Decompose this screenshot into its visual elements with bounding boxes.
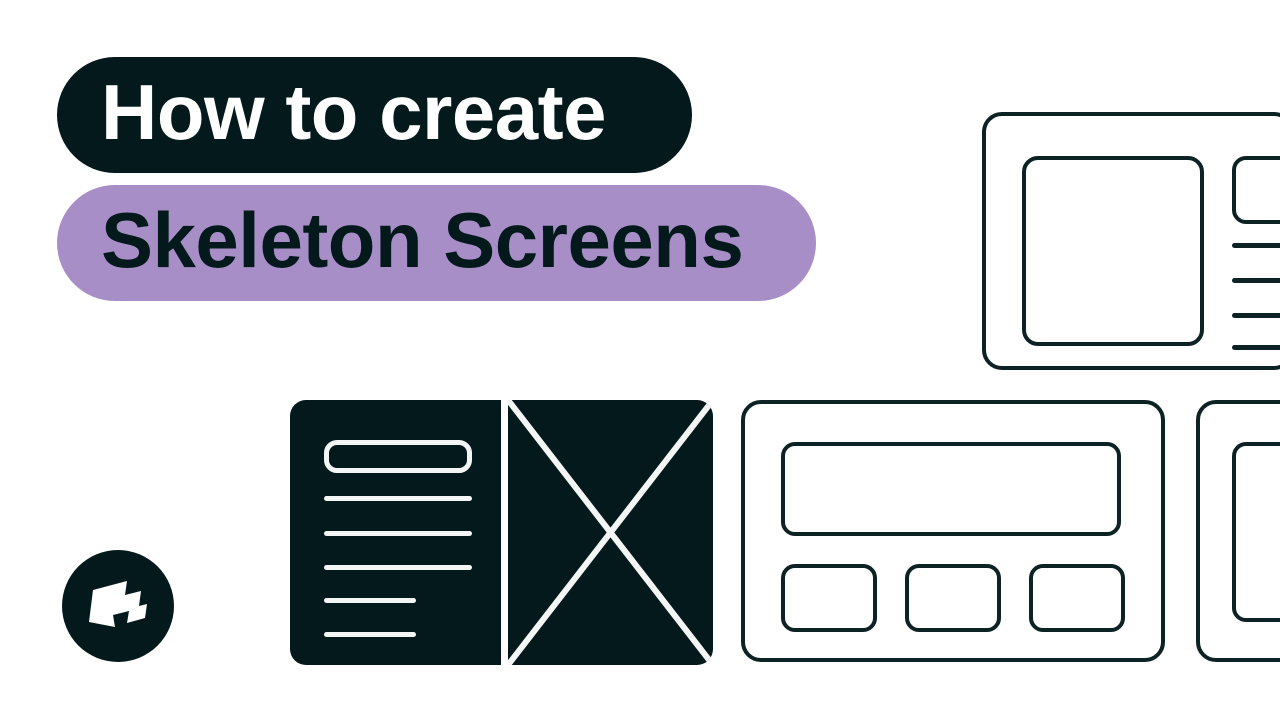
cover-canvas: How to create Skeleton Screens — [0, 0, 1280, 720]
hero-placeholder — [781, 442, 1121, 536]
tile-placeholder-2 — [905, 564, 1001, 632]
text-line-1 — [324, 496, 472, 501]
wireframe-card-media-list[interactable] — [982, 112, 1280, 370]
brand-logo[interactable] — [62, 550, 174, 662]
dark-panel-content-column[interactable] — [290, 400, 501, 665]
title-line-2-text: Skeleton Screens — [101, 201, 743, 279]
text-line-4 — [1232, 345, 1280, 350]
text-line-2 — [1232, 278, 1280, 283]
tile-placeholder-3 — [1029, 564, 1125, 632]
text-line-1 — [1232, 243, 1280, 248]
heading-placeholder — [1232, 156, 1280, 224]
inner-placeholder — [1232, 442, 1280, 622]
wireframe-card-partial[interactable] — [1196, 400, 1280, 662]
search-field-placeholder — [324, 440, 472, 473]
thumbnail-placeholder — [1022, 156, 1204, 346]
text-line-3 — [1232, 313, 1280, 318]
lightning-bolt-icon — [87, 578, 149, 634]
text-line-2 — [324, 531, 472, 536]
title-pill-line-1: How to create — [57, 57, 692, 173]
text-line-5 — [324, 632, 416, 637]
text-line-4 — [324, 598, 416, 603]
dark-panel-image-placeholder[interactable] — [508, 400, 713, 665]
image-cross-marker — [508, 400, 713, 665]
wireframe-card-hero-tiles[interactable] — [741, 400, 1165, 662]
title-line-1-text: How to create — [101, 73, 606, 151]
title-pill-line-2: Skeleton Screens — [57, 185, 816, 301]
text-line-3 — [324, 565, 472, 570]
tile-placeholder-1 — [781, 564, 877, 632]
